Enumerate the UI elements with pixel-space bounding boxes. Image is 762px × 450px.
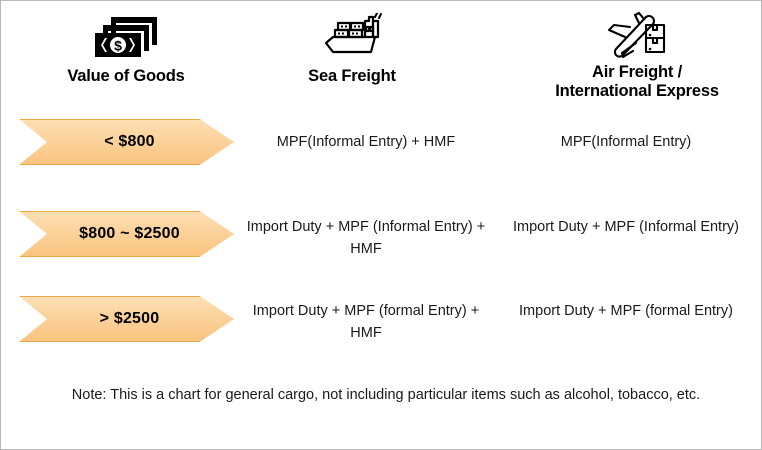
- header-label-sea-freight: Sea Freight: [241, 67, 463, 86]
- air-freight-fees-cell: Import Duty + MPF (Informal Entry): [501, 216, 751, 238]
- value-band-label: > $2500: [94, 310, 160, 328]
- chart-note: Note: This is a chart for general cargo,…: [61, 383, 711, 407]
- table-row: < $800 MPF(Informal Entry) + HMF MPF(Inf…: [1, 119, 762, 179]
- header-label-air-freight-line1: Air Freight /: [511, 63, 762, 82]
- header-column-value-of-goods: $ Value of Goods: [11, 1, 241, 86]
- air-freight-fees-cell: MPF(Informal Entry): [501, 131, 751, 153]
- value-band-label: $800 ~ $2500: [73, 225, 180, 243]
- value-band-banner: < $800: [19, 119, 234, 165]
- header-column-air-freight: Air Freight / International Express: [511, 1, 762, 101]
- chart-header-row: $ Value of Goods: [1, 1, 762, 113]
- sea-freight-fees-cell: Import Duty + MPF (formal Entry) + HMF: [241, 300, 491, 344]
- table-row: $800 ~ $2500 Import Duty + MPF (Informal…: [1, 211, 762, 273]
- fees-chart-page: $ Value of Goods: [0, 0, 762, 450]
- money-stack-icon: $: [11, 1, 241, 59]
- header-column-sea-freight: Sea Freight: [241, 1, 463, 86]
- header-label-air-freight-line2: International Express: [511, 82, 762, 101]
- air-freight-fees-cell: Import Duty + MPF (formal Entry): [501, 300, 751, 322]
- airplane-package-icon: [511, 1, 762, 59]
- svg-text:$: $: [114, 38, 122, 54]
- header-label-air-freight: Air Freight / International Express: [511, 63, 762, 101]
- table-row: > $2500 Import Duty + MPF (formal Entry)…: [1, 296, 762, 358]
- sea-freight-fees-cell: MPF(Informal Entry) + HMF: [241, 131, 491, 153]
- container-ship-icon: [241, 1, 463, 59]
- value-band-banner: > $2500: [19, 296, 234, 342]
- value-band-label: < $800: [98, 133, 155, 151]
- header-label-value-of-goods: Value of Goods: [11, 67, 241, 86]
- value-band-banner: $800 ~ $2500: [19, 211, 234, 257]
- sea-freight-fees-cell: Import Duty + MPF (Informal Entry) + HMF: [241, 216, 491, 260]
